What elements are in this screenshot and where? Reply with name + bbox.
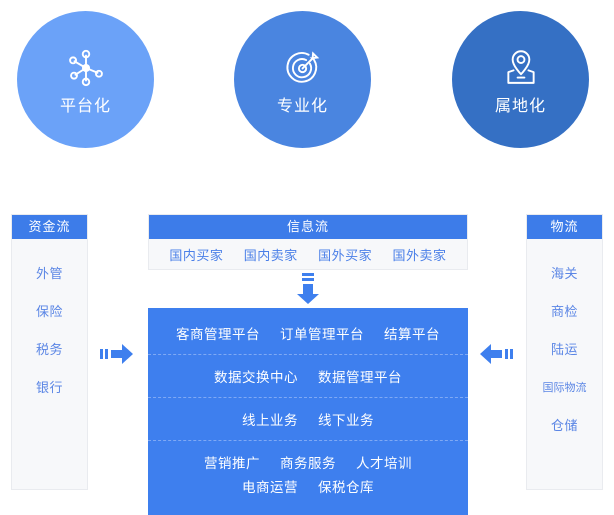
block-item[interactable]: 订单管理平台 — [280, 323, 364, 343]
panel-right-item[interactable]: 商检 — [527, 293, 602, 331]
block-item[interactable]: 线上业务 — [242, 409, 298, 429]
panel-left-item[interactable]: 税务 — [12, 331, 87, 369]
block-item[interactable]: 客商管理平台 — [176, 323, 260, 343]
panel-right-item[interactable]: 仓储 — [527, 407, 602, 445]
down-arrow-wrap — [148, 270, 468, 308]
circle-card-platform[interactable]: 平台化 — [17, 11, 154, 148]
panel-right-items: 海关 商检 陆运 国际物流 仓储 — [527, 239, 602, 445]
block-item[interactable]: 保税仓库 — [318, 476, 374, 496]
block-section: 客商管理平台 订单管理平台 结算平台 — [148, 312, 468, 355]
block-row: 客商管理平台 订单管理平台 结算平台 — [148, 321, 468, 345]
block-item[interactable]: 电商运营 — [242, 476, 298, 496]
circle-label: 专业化 — [277, 99, 328, 115]
block-item[interactable]: 结算平台 — [384, 323, 440, 343]
arrow-down-icon — [295, 273, 321, 305]
flow-diagram: 资金流 外管 保险 税务 银行 物流 海关 商检 陆运 国际物流 仓储 信息流 … — [0, 205, 614, 500]
block-item[interactable]: 数据交换中心 — [214, 366, 298, 386]
panel-logistics: 物流 海关 商检 陆运 国际物流 仓储 — [526, 214, 603, 490]
core-platform-block: 客商管理平台 订单管理平台 结算平台 数据交换中心 数据管理平台 线上业务 线下… — [148, 308, 468, 515]
panel-right-item[interactable]: 海关 — [527, 255, 602, 293]
block-item[interactable]: 数据管理平台 — [318, 366, 402, 386]
panel-left-items: 外管 保险 税务 银行 — [12, 239, 87, 407]
network-hub-icon — [63, 45, 109, 91]
block-item[interactable]: 线下业务 — [318, 409, 374, 429]
panel-capital-flow: 资金流 外管 保险 税务 银行 — [11, 214, 88, 490]
highlight-circles-row: 平台化 专业化 属地化 — [0, 0, 614, 160]
panel-right-item[interactable]: 陆运 — [527, 331, 602, 369]
block-item[interactable]: 人才培训 — [356, 452, 412, 472]
info-flow-items: 国内买家 国内卖家 国外买家 国外卖家 — [149, 239, 467, 269]
circle-label: 平台化 — [60, 99, 111, 115]
info-flow-item[interactable]: 国外买家 — [318, 245, 372, 264]
block-row: 线上业务 线下业务 — [148, 407, 468, 431]
block-row: 数据交换中心 数据管理平台 — [148, 364, 468, 388]
block-item[interactable]: 商务服务 — [280, 452, 336, 472]
panel-right-item[interactable]: 国际物流 — [527, 369, 602, 407]
info-flow-item[interactable]: 国内卖家 — [244, 245, 298, 264]
block-section: 数据交换中心 数据管理平台 — [148, 355, 468, 398]
circle-label: 属地化 — [495, 99, 546, 115]
panel-left-item[interactable]: 银行 — [12, 369, 87, 407]
location-pin-map-icon — [498, 45, 544, 91]
block-section: 线上业务 线下业务 — [148, 398, 468, 441]
target-dart-icon — [280, 45, 326, 91]
info-flow-title: 信息流 — [149, 215, 467, 239]
panel-left-title: 资金流 — [12, 215, 87, 239]
panel-left-item[interactable]: 外管 — [12, 255, 87, 293]
info-flow-item[interactable]: 国内买家 — [169, 245, 223, 264]
center-column: 信息流 国内买家 国内卖家 国外买家 国外卖家 客商管理平台 订单管理平台 结算… — [148, 214, 468, 515]
panel-left-item[interactable]: 保险 — [12, 293, 87, 331]
circle-card-localization[interactable]: 属地化 — [452, 11, 589, 148]
block-row: 电商运营 保税仓库 — [148, 474, 468, 498]
circle-card-professional[interactable]: 专业化 — [234, 11, 371, 148]
card-information-flow: 信息流 国内买家 国内卖家 国外买家 国外卖家 — [148, 214, 468, 270]
info-flow-item[interactable]: 国外卖家 — [393, 245, 447, 264]
arrow-left-icon — [479, 343, 513, 365]
block-row: 营销推广 商务服务 人才培训 — [148, 450, 468, 474]
block-item[interactable]: 营销推广 — [204, 452, 260, 472]
block-section: 营销推广 商务服务 人才培训 电商运营 保税仓库 — [148, 441, 468, 507]
arrow-right-icon — [100, 343, 134, 365]
panel-right-title: 物流 — [527, 215, 602, 239]
